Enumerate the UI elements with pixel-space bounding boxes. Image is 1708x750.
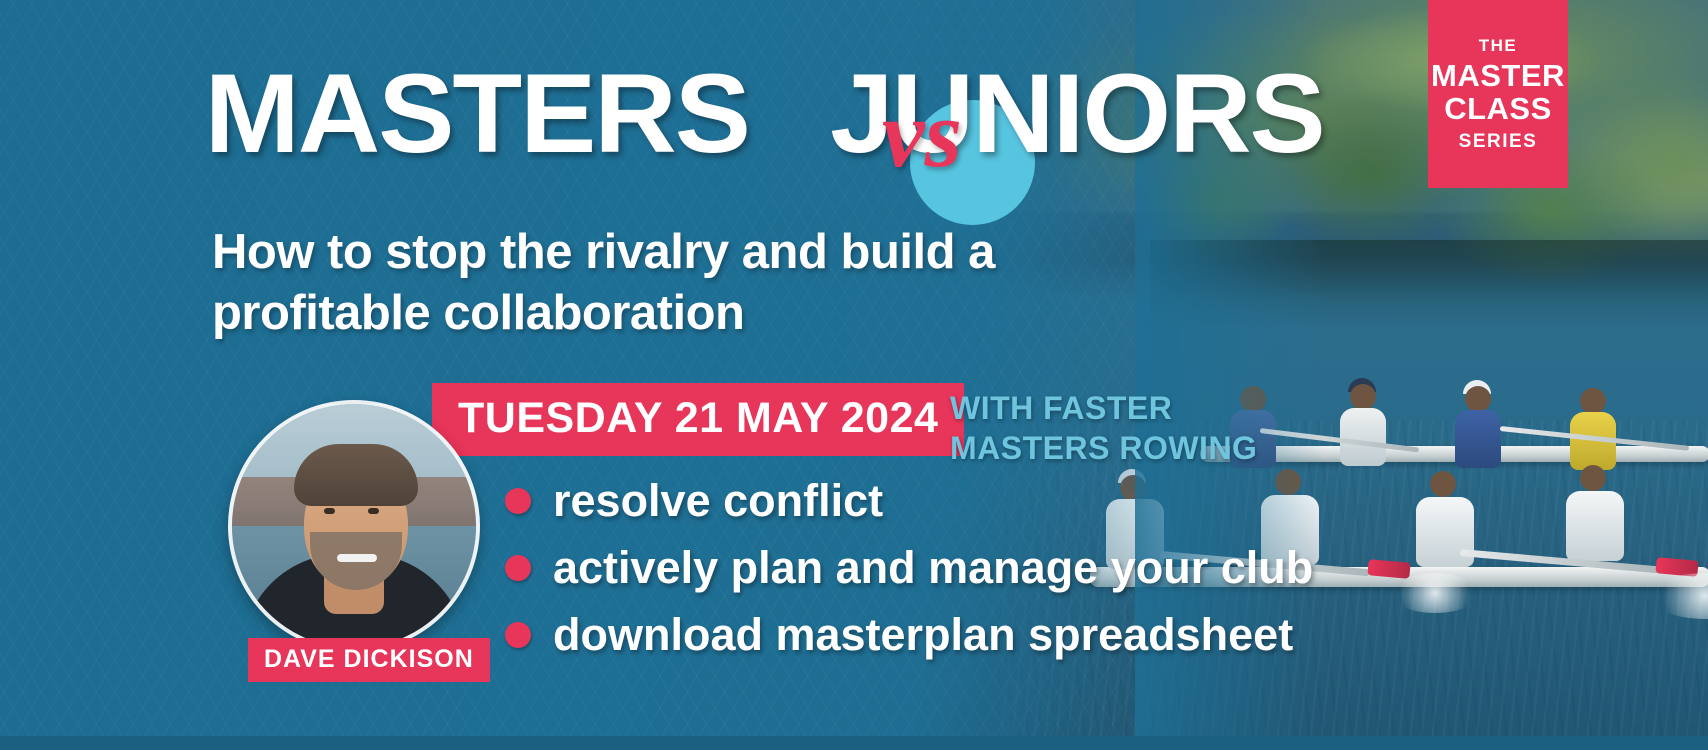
badge-series: SERIES	[1459, 132, 1538, 151]
avatar-eye-right	[368, 508, 379, 514]
rower-torso	[1340, 408, 1386, 466]
badge-master: MASTER	[1431, 60, 1565, 91]
presenter-org-line2: MASTERS ROWING	[950, 428, 1257, 468]
list-item: actively plan and manage your club	[505, 545, 1313, 590]
headline-vs: vs	[882, 78, 962, 189]
bullet-label: download masterplan spreadsheet	[553, 612, 1293, 657]
rower-torso	[1566, 491, 1624, 561]
list-item: download masterplan spreadsheet	[505, 612, 1313, 657]
bullet-dot-icon	[505, 555, 531, 581]
avatar-hair	[294, 444, 418, 506]
rower-head	[1430, 471, 1456, 497]
list-item: resolve conflict	[505, 478, 1313, 523]
promo-banner: THE MASTER CLASS SERIES MASTERS JUNIORS …	[0, 0, 1708, 750]
bullet-dot-icon	[505, 488, 531, 514]
rower-head	[1580, 465, 1606, 491]
event-date-badge: TUESDAY 21 MAY 2024	[432, 383, 964, 456]
avatar-eye-left	[324, 508, 335, 514]
bullet-list: resolve conflict actively plan and manag…	[505, 478, 1313, 679]
bullet-label: resolve conflict	[553, 478, 883, 523]
subheadline: How to stop the rivalry and build a prof…	[212, 222, 1092, 345]
bullet-dot-icon	[505, 622, 531, 648]
rower-torso	[1455, 410, 1501, 468]
headline-word-masters: MASTERS	[205, 58, 749, 170]
badge-class: CLASS	[1444, 93, 1552, 124]
avatar	[228, 400, 480, 652]
bottom-strip	[0, 736, 1708, 750]
rower-head	[1465, 386, 1491, 412]
masterclass-badge: THE MASTER CLASS SERIES	[1428, 0, 1568, 188]
avatar-mouth	[337, 554, 377, 562]
badge-the: THE	[1479, 37, 1518, 54]
presenter-org: WITH FASTER MASTERS ROWING	[950, 388, 1257, 468]
bullet-label: actively plan and manage your club	[553, 545, 1313, 590]
speaker-name-badge: DAVE DICKISON	[248, 638, 490, 682]
presenter-org-line1: WITH FASTER	[950, 388, 1257, 428]
water-splash	[1390, 573, 1480, 613]
rower-head	[1350, 384, 1376, 410]
headline: MASTERS JUNIORS vs	[210, 58, 1210, 178]
rower-head	[1580, 388, 1606, 414]
